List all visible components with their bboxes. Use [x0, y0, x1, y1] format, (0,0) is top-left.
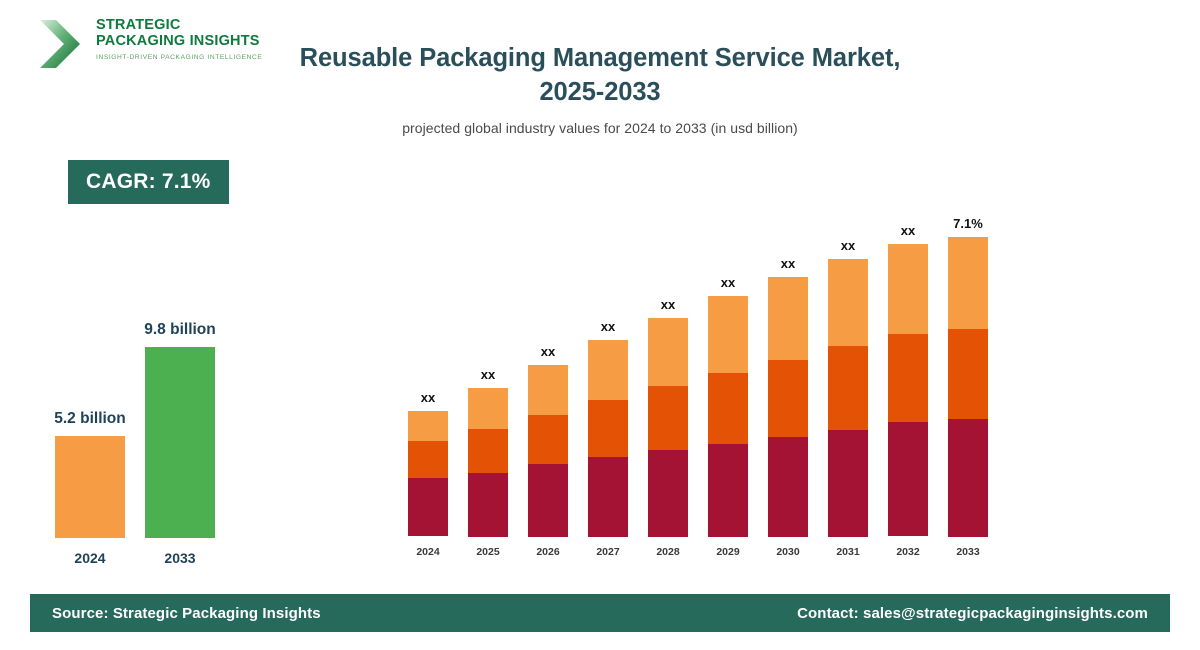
stacked-year-label: 2029 — [716, 546, 739, 558]
stacked-segment-segment-middle — [948, 329, 988, 419]
stacked-segment-segment-top — [648, 318, 688, 386]
stacked-segment-segment-bottom — [768, 437, 808, 537]
stacked-bar-value-label: 7.1% — [953, 216, 983, 231]
stacked-bar-value-label: xx — [481, 367, 495, 382]
stacked-segment-segment-middle — [708, 373, 748, 444]
stacked-segment-segment-bottom — [828, 430, 868, 537]
stacked-column-2028: xx2028 — [640, 200, 696, 560]
green-chevron-icon — [34, 16, 90, 72]
stacked-segment-segment-bottom — [648, 450, 688, 537]
stacked-bar — [528, 365, 568, 537]
title-block: Reusable Packaging Management Service Ma… — [280, 42, 920, 136]
stacked-bar — [828, 259, 868, 537]
stacked-bar-value-label: xx — [661, 297, 675, 312]
stacked-segment-segment-bottom — [948, 419, 988, 537]
stacked-year-label: 2024 — [416, 546, 439, 558]
brand-tagline: INSIGHT-DRIVEN PACKAGING INTELLIGENCE — [96, 54, 261, 61]
stacked-year-label: 2031 — [836, 546, 859, 558]
stacked-segment-segment-middle — [468, 429, 508, 473]
stacked-segment-segment-middle — [528, 415, 568, 464]
stacked-segment-segment-top — [528, 365, 568, 415]
stacked-year-label: 2028 — [656, 546, 679, 558]
stacked-bar-value-label: xx — [541, 344, 555, 359]
brand-logo: STRATEGIC PACKAGING INSIGHTS INSIGHT-DRI… — [30, 14, 260, 76]
footer-source: Source: Strategic Packaging Insights — [52, 605, 321, 622]
footer-contact: Contact: sales@strategicpackaginginsight… — [797, 605, 1148, 622]
stacked-column-2025: xx2025 — [460, 200, 516, 560]
stacked-segment-segment-middle — [648, 386, 688, 450]
stacked-bar — [468, 388, 508, 537]
comparison-value-label: 5.2 billion — [54, 410, 125, 428]
stacked-bar — [948, 237, 988, 537]
stacked-bar — [888, 244, 928, 537]
stacked-segment-segment-middle — [588, 400, 628, 457]
stacked-bar-value-label: xx — [421, 390, 435, 405]
stacked-bar — [708, 296, 748, 537]
page-subtitle: projected global industry values for 202… — [280, 120, 920, 136]
stacked-bar-value-label: xx — [901, 223, 915, 238]
stacked-year-label: 2026 — [536, 546, 559, 558]
stacked-year-label: 2032 — [896, 546, 919, 558]
stacked-column-2033: 7.1%2033 — [940, 200, 996, 560]
stacked-segment-segment-top — [408, 411, 448, 441]
comparison-column-2024: 5.2 billion 2024 — [55, 300, 125, 570]
stacked-segment-segment-bottom — [888, 422, 928, 536]
stacked-segment-segment-top — [888, 244, 928, 334]
comparison-value-label: 9.8 billion — [144, 321, 215, 339]
brand-wordmark: STRATEGIC PACKAGING INSIGHTS INSIGHT-DRI… — [96, 18, 261, 61]
page-title: Reusable Packaging Management Service Ma… — [280, 42, 920, 109]
stacked-year-label: 2033 — [956, 546, 979, 558]
stacked-segment-segment-top — [708, 296, 748, 373]
stacked-segment-segment-top — [768, 277, 808, 360]
stacked-column-2032: xx2032 — [880, 200, 936, 560]
stacked-year-label: 2027 — [596, 546, 619, 558]
stacked-bar-value-label: xx — [721, 275, 735, 290]
stacked-bar — [408, 411, 448, 537]
stacked-bar-value-label: xx — [841, 238, 855, 253]
stacked-column-2029: xx2029 — [700, 200, 756, 560]
stacked-segment-segment-middle — [828, 346, 868, 430]
stacked-column-2026: xx2026 — [520, 200, 576, 560]
stacked-segment-segment-top — [948, 237, 988, 329]
stacked-segment-segment-top — [828, 259, 868, 346]
stacked-segment-segment-bottom — [708, 444, 748, 537]
stacked-segment-segment-middle — [888, 334, 928, 422]
stacked-bar-value-label: xx — [781, 256, 795, 271]
stacked-column-2027: xx2027 — [580, 200, 636, 560]
infographic-page: STRATEGIC PACKAGING INSIGHTS INSIGHT-DRI… — [0, 0, 1200, 650]
stacked-segment-segment-top — [468, 388, 508, 429]
stacked-bar — [768, 277, 808, 537]
stacked-column-2024: xx2024 — [400, 200, 456, 560]
stacked-segment-segment-top — [588, 340, 628, 400]
stacked-segment-segment-bottom — [408, 478, 448, 536]
stacked-segment-segment-middle — [408, 441, 448, 478]
brand-name-line2: PACKAGING INSIGHTS — [96, 34, 261, 50]
stacked-segment-segment-bottom — [528, 464, 568, 537]
stacked-segment-segment-bottom — [588, 457, 628, 537]
stacked-bar-chart: xx2024xx2025xx2026xx2027xx2028xx2029xx20… — [400, 200, 1010, 560]
comparison-year-label: 2033 — [164, 550, 195, 566]
comparison-year-label: 2024 — [74, 550, 105, 566]
comparison-bar — [145, 347, 215, 538]
brand-name-line1: STRATEGIC — [96, 18, 261, 34]
stacked-year-label: 2025 — [476, 546, 499, 558]
comparison-chart: 5.2 billion 2024 9.8 billion 2033 — [55, 300, 285, 570]
comparison-bar — [55, 436, 125, 538]
stacked-column-2031: xx2031 — [820, 200, 876, 560]
footer-bar: Source: Strategic Packaging Insights Con… — [30, 594, 1170, 632]
stacked-segment-segment-bottom — [468, 473, 508, 537]
stacked-segment-segment-middle — [768, 360, 808, 437]
stacked-bar — [648, 318, 688, 537]
stacked-bar — [588, 340, 628, 537]
stacked-bar-value-label: xx — [601, 319, 615, 334]
stacked-year-label: 2030 — [776, 546, 799, 558]
comparison-column-2033: 9.8 billion 2033 — [145, 300, 215, 570]
cagr-badge: CAGR: 7.1% — [68, 160, 229, 204]
stacked-column-2030: xx2030 — [760, 200, 816, 560]
